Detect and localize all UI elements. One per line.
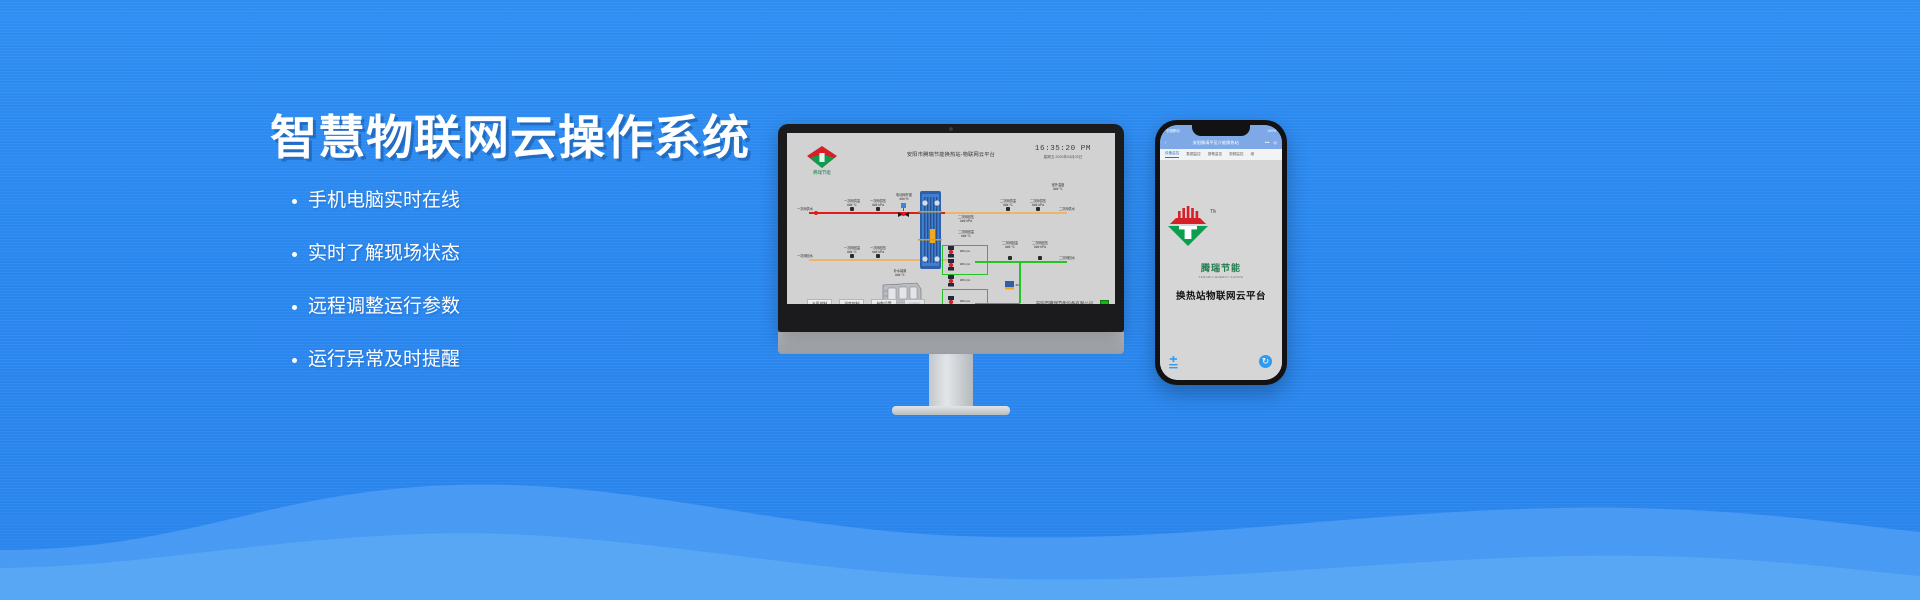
tag-softener: 补水装置 ### ℃ bbox=[887, 269, 913, 277]
page-title: 智慧物联网云操作系统 bbox=[270, 112, 790, 165]
carrier-label: 中国移动 bbox=[1166, 128, 1180, 133]
pump-icon bbox=[945, 246, 957, 258]
sensor-icon bbox=[850, 254, 854, 258]
phone-tab-bar: 设备监控 数据监控 报警监控 视频监控 维 bbox=[1160, 149, 1282, 160]
pump-readout: ### rpm bbox=[960, 299, 970, 303]
monitor-stem bbox=[929, 354, 973, 406]
phone-app-title: 换热站物联网云平台 bbox=[1160, 288, 1282, 302]
pump-icon bbox=[945, 259, 957, 271]
list-item: 手机电脑实时在线 bbox=[292, 191, 790, 210]
tab-device-monitor[interactable]: 设备监控 bbox=[1165, 151, 1179, 158]
tab-data-monitor[interactable]: 数据监控 bbox=[1186, 152, 1200, 157]
sensor-icon bbox=[1008, 256, 1012, 260]
tag-valve-open: 电动阀开度 ### % bbox=[891, 193, 917, 201]
field-device-icon: ## bbox=[1005, 281, 1019, 290]
label-primary-return: 一次网回水 bbox=[797, 253, 813, 258]
pump-icon bbox=[945, 275, 957, 287]
tengrui-logo-icon: TM bbox=[1160, 206, 1216, 254]
label-secondary-return: 二次网回水 bbox=[1059, 255, 1075, 260]
phone-content: TM 腾瑞节能 TENGRUI ENERGY SAVING 换热站物 bbox=[1160, 160, 1282, 380]
tab-more[interactable]: 维 bbox=[1251, 152, 1255, 157]
tag-s-ret-temp: 二次网回温 ### ℃ bbox=[953, 230, 979, 238]
tag-s-ret-press: 二次网回压 ### kPa bbox=[953, 215, 979, 223]
webcam-icon bbox=[949, 127, 953, 131]
plate-heat-exchanger-icon bbox=[917, 189, 945, 273]
monitor-chin bbox=[787, 304, 1115, 318]
sensor-icon bbox=[1038, 256, 1042, 260]
feature-list: 手机电脑实时在线 实时了解现场状态 远程调整运行参数 运行异常及时提醒 bbox=[292, 191, 790, 369]
headline-tail: 操作系统 bbox=[558, 111, 750, 164]
pump-readout: ### rpm bbox=[960, 278, 970, 282]
tag-s-back-temp: 二次网回温 ### ℃ bbox=[997, 241, 1023, 249]
mobile-phone: 中国移动 100% ‹ 安阳滕清平区介能换热站 ••• ◎ 设备监控 数据监控 … bbox=[1155, 120, 1287, 385]
tag-p-supply-press: 一次网供压 ### kPa bbox=[865, 199, 891, 207]
desktop-monitor: 腾瑞节能 安阳市腾瑞节能换热站-物联网云平台 16:35:20 PM 星期五 2… bbox=[778, 124, 1124, 415]
sensor-icon bbox=[1006, 207, 1010, 211]
calculator-icon[interactable] bbox=[1168, 356, 1180, 370]
phone-screen: 中国移动 100% ‹ 安阳滕清平区介能换热站 ••• ◎ 设备监控 数据监控 … bbox=[1160, 125, 1282, 380]
clock-date: 星期五 2020年04月03日 bbox=[1035, 155, 1091, 160]
pipe-secondary-return bbox=[975, 261, 1067, 263]
sensor-icon bbox=[850, 207, 854, 211]
svg-text:腾瑞节能: 腾瑞节能 bbox=[813, 169, 831, 175]
tag-s-supply-press: 二次网供压 ### kPa bbox=[1025, 199, 1051, 207]
svg-text:##: ## bbox=[1016, 283, 1020, 287]
phone-body: 中国移动 100% ‹ 安阳滕清平区介能换热站 ••• ◎ 设备监控 数据监控 … bbox=[1155, 120, 1287, 385]
phone-notch bbox=[1192, 125, 1250, 136]
wave-decoration-front bbox=[0, 430, 1920, 600]
tag-outdoor-temp: 室外温度 ### ℃ bbox=[1045, 183, 1071, 191]
monitor-base bbox=[892, 406, 1010, 415]
label-secondary-supply: 二次网供水 bbox=[1059, 206, 1075, 211]
phone-nav-bar: ‹ 安阳滕清平区介能换热站 ••• ◎ bbox=[1160, 136, 1282, 149]
clock-time: 16:35:20 PM bbox=[1035, 145, 1091, 153]
tag-s-back-press: 二次网回压 ### kPa bbox=[1027, 241, 1053, 249]
monitor-screen: 腾瑞节能 安阳市腾瑞节能换热站-物联网云平台 16:35:20 PM 星期五 2… bbox=[787, 133, 1115, 318]
refresh-icon[interactable]: ↻ bbox=[1259, 355, 1272, 368]
tengrui-logo-icon: 腾瑞节能 bbox=[805, 145, 839, 175]
scada-clock: 16:35:20 PM 星期五 2020年04月03日 bbox=[1035, 145, 1091, 160]
tag-p-return-temp: 一次网回温 ### ℃ bbox=[839, 246, 865, 254]
sensor-icon bbox=[876, 254, 880, 258]
target-icon[interactable]: ◎ bbox=[1273, 140, 1277, 145]
monitor-bezel: 腾瑞节能 安阳市腾瑞节能换热站-物联网云平台 16:35:20 PM 星期五 2… bbox=[778, 124, 1124, 332]
promo-banner: 智慧物联网云操作系统 手机电脑实时在线 实时了解现场状态 远程调整运行参数 运行… bbox=[0, 0, 1920, 600]
more-icon[interactable]: ••• bbox=[1265, 140, 1269, 145]
svg-text:TM: TM bbox=[1210, 209, 1216, 215]
tag-s-supply-temp: 二次网供温 ### ℃ bbox=[995, 199, 1021, 207]
label-primary-supply: 一次网供水 bbox=[797, 206, 813, 211]
pump-readout: ### rpm bbox=[960, 262, 970, 266]
motor-valve-icon bbox=[897, 203, 910, 217]
list-item: 远程调整运行参数 bbox=[292, 297, 790, 316]
phone-nav-title: 安阳滕清平区介能换热站 bbox=[1170, 140, 1261, 146]
tab-video-monitor[interactable]: 视频监控 bbox=[1229, 152, 1243, 157]
phone-brand-subtitle: TENGRUI ENERGY SAVING bbox=[1160, 275, 1282, 279]
sensor-icon bbox=[876, 207, 880, 211]
headline-block: 智慧物联网云操作系统 手机电脑实时在线 实时了解现场状态 远程调整运行参数 运行… bbox=[270, 112, 790, 403]
phone-brand-name: 腾瑞节能 bbox=[1160, 261, 1282, 274]
monitor-neck bbox=[778, 332, 1124, 354]
pipe-vertical-link bbox=[1019, 261, 1021, 303]
headline-emphasis: 智慧物联网云 bbox=[270, 111, 558, 164]
pump-readout: ### rpm bbox=[960, 249, 970, 253]
sensor-icon bbox=[1036, 207, 1040, 211]
tab-alarm-monitor[interactable]: 报警监控 bbox=[1208, 152, 1222, 157]
list-item: 运行异常及时提醒 bbox=[292, 350, 790, 369]
tag-p-supply-temp: 一次网供温 ### ℃ bbox=[839, 199, 865, 207]
battery-label: 100% bbox=[1267, 129, 1276, 133]
back-icon[interactable]: ‹ bbox=[1165, 140, 1166, 145]
tag-p-return-press: 一次网回压 ### kPa bbox=[865, 246, 891, 254]
sensor-dot bbox=[814, 211, 818, 215]
pipe-secondary-supply bbox=[945, 212, 1067, 214]
list-item: 实时了解现场状态 bbox=[292, 244, 790, 263]
